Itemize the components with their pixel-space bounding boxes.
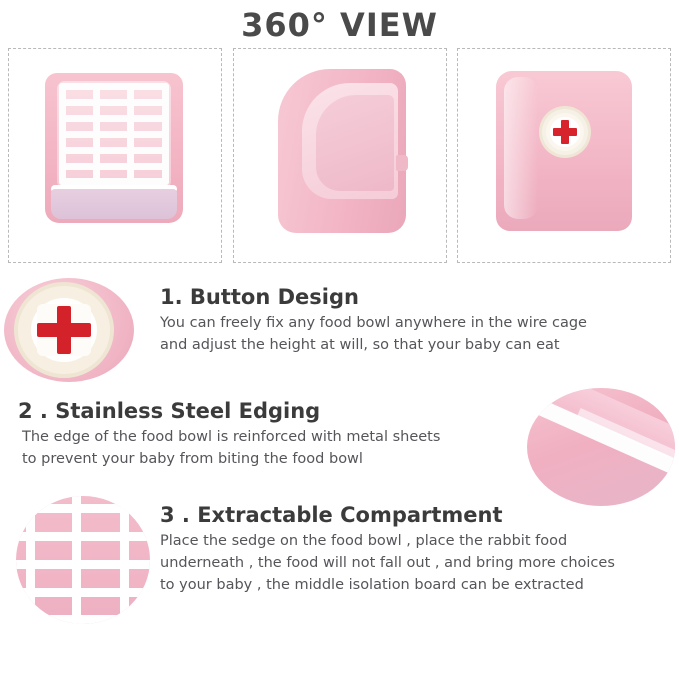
bowl-base xyxy=(51,189,177,219)
cross-button-icon xyxy=(542,109,588,155)
page-title: 360° VIEW xyxy=(0,0,679,48)
feature-item-button-design: 1. Button Design You can freely fix any … xyxy=(0,272,679,384)
feature-item-extractable-compartment: 3 . Extractable Compartment Place the se… xyxy=(0,496,679,636)
feature-3-line-3: to your baby , the middle isolation boar… xyxy=(160,574,679,596)
product-image-side xyxy=(278,69,406,233)
gallery-panel-back[interactable] xyxy=(457,48,671,263)
feature-2-image xyxy=(527,388,675,506)
product-gallery xyxy=(0,48,679,268)
feature-3-image xyxy=(16,496,150,624)
feature-1-line-2: and adjust the height at will, so that y… xyxy=(160,334,679,356)
feature-1-line-1: You can freely fix any food bowl anywher… xyxy=(160,312,679,334)
gallery-panel-side[interactable] xyxy=(233,48,447,263)
feature-3-line-2: underneath , the food will not fall out … xyxy=(160,552,679,574)
wire-cage-grid xyxy=(59,83,169,185)
bowl-side-tab xyxy=(396,155,408,171)
product-image-back xyxy=(496,71,632,231)
product-image-front xyxy=(45,73,183,223)
gallery-panel-front[interactable] xyxy=(8,48,222,263)
feature-1-image xyxy=(4,278,134,382)
bowl-cavity-inner xyxy=(316,95,394,191)
feature-3-title: 3 . Extractable Compartment xyxy=(160,496,679,530)
feature-item-stainless-steel-edging: 2 . Stainless Steel Edging The edge of t… xyxy=(0,388,679,492)
feature-3-line-1: Place the sedge on the food bowl , place… xyxy=(160,530,679,552)
feature-1-title: 1. Button Design xyxy=(160,272,679,312)
feature-list: 1. Button Design You can freely fix any … xyxy=(0,268,679,636)
